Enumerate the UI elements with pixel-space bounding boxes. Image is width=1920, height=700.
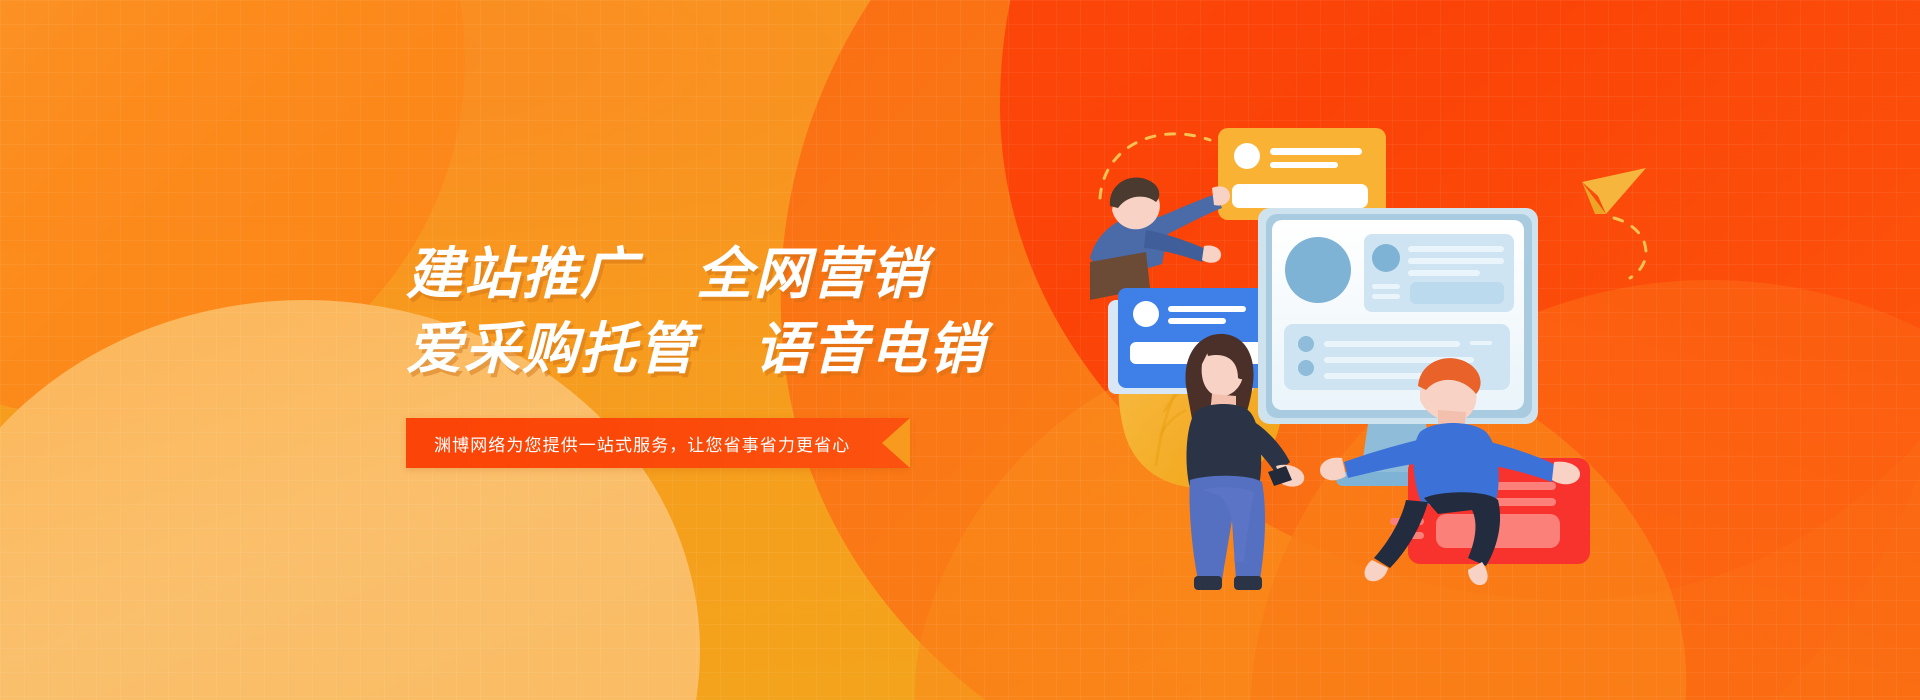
- headline-line-2: 爱采购托管 语音电销: [406, 311, 1146, 386]
- headline-line-1: 建站推广 全网营销: [406, 236, 1146, 311]
- subtitle-ribbon-text: 渊博网络为您提供一站式服务，让您省事省力更省心: [406, 431, 850, 456]
- person-reaching-man: [1090, 178, 1230, 300]
- banner-copy: 建站推广 全网营销 爱采购托管 语音电销 渊博网络为您提供一站式服务，让您省事省…: [406, 236, 1146, 468]
- paper-plane-icon: [1582, 168, 1646, 214]
- teamwork-dashboard-illustration: [1090, 110, 1650, 590]
- subtitle-ribbon: 渊博网络为您提供一站式服务，让您省事省力更省心: [406, 418, 910, 468]
- promo-banner: 建站推广 全网营销 爱采购托管 语音电销 渊博网络为您提供一站式服务，让您省事省…: [0, 0, 1920, 700]
- yellow-card-top: [1218, 128, 1386, 220]
